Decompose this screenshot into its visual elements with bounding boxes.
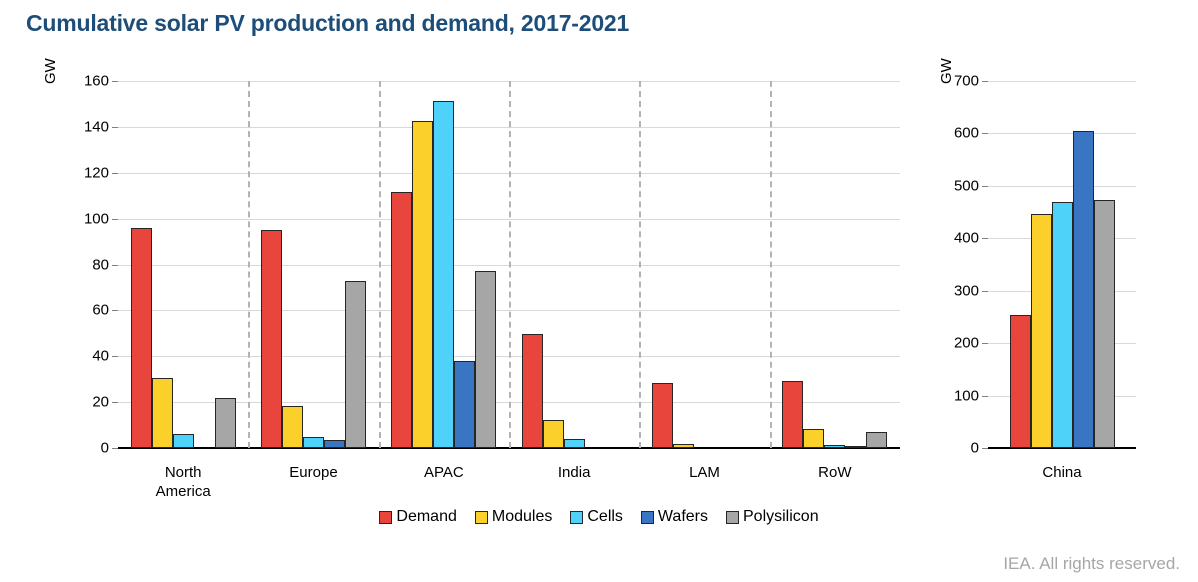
bar-demand[interactable] [1010,315,1031,448]
y-axis-tick-mark [982,186,988,187]
bar-wafers[interactable] [845,446,866,448]
y-axis-tick-label: 40 [92,349,109,364]
y-axis-tick-label: 0 [971,441,979,456]
y-axis-tick-label: 600 [954,126,979,141]
bar-modules[interactable] [543,420,564,448]
y-axis-tick-mark [112,310,118,311]
legend-item-modules[interactable]: Modules [475,508,552,526]
chart-legend: DemandModulesCellsWafersPolysilicon [0,508,1198,526]
legend-item-label: Modules [492,508,552,526]
copyright-notice: IEA. All rights reserved. [1003,554,1180,574]
legend-item-label: Demand [396,508,456,526]
y-axis-tick-mark [112,219,118,220]
y-axis-tick-label: 160 [84,74,109,89]
group-separator [770,81,772,448]
bar-demand[interactable] [261,230,282,448]
bar-polysilicon[interactable] [475,271,496,448]
bar-polysilicon[interactable] [866,432,887,449]
y-axis-tick-mark [112,173,118,174]
bar-wafers[interactable] [324,440,345,448]
y-axis-tick-label: 100 [954,388,979,403]
y-axis-tick-label: 0 [101,441,109,456]
x-axis-category-label: North America [118,464,248,502]
y-axis-tick-mark [112,356,118,357]
y-axis-tick-label: 140 [84,119,109,134]
legend-item-label: Polysilicon [743,508,819,526]
y-axis-tick-label: 500 [954,178,979,193]
y-axis-tick-mark [982,396,988,397]
x-axis-category-label: LAM [639,464,769,483]
china-plot-area: 0100200300400500600700 [988,81,1136,448]
y-axis-tick-mark [982,133,988,134]
y-axis-tick-label: 60 [92,303,109,318]
bar-demand[interactable] [391,192,412,448]
legend-item-wafers[interactable]: Wafers [641,508,708,526]
y-axis-tick-mark [112,402,118,403]
y-axis-tick-mark [982,343,988,344]
y-axis-tick-label: 100 [84,211,109,226]
y-axis-tick-mark [982,81,988,82]
bar-cells[interactable] [303,437,324,448]
y-axis-label-china: GW [938,58,955,84]
bar-modules[interactable] [1031,214,1052,448]
x-axis-category-label: RoW [770,464,900,483]
bar-demand[interactable] [782,381,803,448]
y-axis-tick-mark [112,265,118,266]
bar-wafers[interactable] [454,361,475,448]
legend-swatch-icon [379,511,392,524]
x-axis-category-label: China [988,464,1136,483]
y-axis-tick-label: 20 [92,395,109,410]
bar-cells[interactable] [564,439,585,448]
legend-swatch-icon [475,511,488,524]
y-axis-tick-mark [112,127,118,128]
x-axis-category-label: Europe [248,464,378,483]
y-axis-tick-label: 400 [954,231,979,246]
y-axis-tick-label: 80 [92,257,109,272]
bar-wafers[interactable] [1073,131,1094,448]
bar-cells[interactable] [433,101,454,449]
x-axis-category-label: India [509,464,639,483]
y-axis-label-regions: GW [42,58,59,84]
group-separator [509,81,511,448]
bar-cells[interactable] [173,434,194,448]
gridline [988,186,1136,187]
regions-plot-area: 020406080100120140160 [118,81,900,448]
legend-item-label: Cells [587,508,623,526]
bar-polysilicon[interactable] [215,398,236,448]
group-separator [248,81,250,448]
y-axis-tick-mark [112,81,118,82]
bar-modules[interactable] [412,121,433,448]
legend-swatch-icon [641,511,654,524]
bar-modules[interactable] [673,444,694,448]
y-axis-tick-label: 120 [84,165,109,180]
y-axis-tick-label: 300 [954,283,979,298]
bar-demand[interactable] [131,228,152,448]
bar-polysilicon[interactable] [1094,200,1115,448]
legend-swatch-icon [726,511,739,524]
bar-cells[interactable] [824,445,845,448]
y-axis-tick-mark [982,291,988,292]
group-separator [379,81,381,448]
legend-item-polysilicon[interactable]: Polysilicon [726,508,819,526]
gridline [988,81,1136,82]
y-axis-tick-label: 700 [954,74,979,89]
gridline [988,133,1136,134]
bar-demand[interactable] [652,383,673,448]
bar-demand[interactable] [522,334,543,448]
legend-item-label: Wafers [658,508,708,526]
legend-swatch-icon [570,511,583,524]
group-separator [639,81,641,448]
bar-cells[interactable] [1052,202,1073,448]
bar-modules[interactable] [152,378,173,448]
y-axis-tick-label: 200 [954,336,979,351]
legend-item-cells[interactable]: Cells [570,508,623,526]
bar-modules[interactable] [803,429,824,448]
legend-item-demand[interactable]: Demand [379,508,456,526]
x-axis-category-label: APAC [379,464,509,483]
y-axis-tick-mark [982,238,988,239]
bar-modules[interactable] [282,406,303,448]
bar-polysilicon[interactable] [345,281,366,448]
page-title: Cumulative solar PV production and deman… [26,10,629,37]
